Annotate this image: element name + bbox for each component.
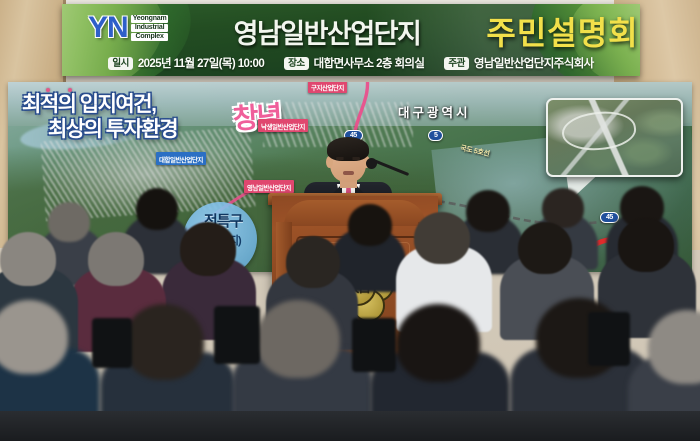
audience-head [466, 190, 510, 232]
audience-head [136, 188, 178, 230]
audience-head [0, 300, 68, 374]
audience-head [348, 204, 392, 246]
audience-head [618, 218, 674, 272]
chair-back [92, 318, 132, 368]
audience-head [124, 304, 204, 380]
site-tag-nakseong: 낙생일반산업단지 [258, 119, 308, 132]
banner-info-bar: 일시 2025년 11월 27일(목) 10:00 장소 대합면사무소 2층 회… [62, 52, 640, 74]
audience-head [88, 232, 144, 286]
chair-back [588, 312, 630, 366]
slogan-dot-2 [68, 88, 72, 92]
info-group-venue: 장소 대합면사무소 2층 회의실 [284, 55, 424, 71]
speaker-mouth [343, 171, 354, 175]
site-tag-yeongnam: 영남일반산업단지 [244, 180, 294, 193]
microphone [372, 156, 412, 190]
logo-word-3: Complex [131, 33, 169, 41]
floor [0, 411, 700, 441]
presentation-room-scene: YN Yeongnam Industrial Complex 영남일반산업단지 … [0, 0, 700, 441]
aerial-inset-photo [546, 98, 683, 177]
event-banner: YN Yeongnam Industrial Complex 영남일반산업단지 … [62, 4, 640, 76]
banner-title-main: 영남일반산업단지 [182, 13, 472, 49]
audience-head [48, 202, 90, 242]
info-group-host: 주관 영남일반산업단지주식회사 [444, 55, 593, 71]
audience-head [286, 236, 340, 288]
info-tag-host: 주관 [444, 57, 468, 70]
audience-head [396, 304, 480, 382]
yn-logo: YN Yeongnam Industrial Complex [88, 13, 168, 43]
info-value-venue: 대합면사무소 2층 회의실 [314, 55, 425, 71]
slogan-dots [46, 88, 72, 92]
logo-initials: YN [88, 13, 128, 43]
logo-word-2: Industrial [131, 24, 169, 32]
info-group-datetime: 일시 2025년 11월 27일(목) 10:00 [108, 55, 264, 71]
audience-head [414, 212, 470, 264]
logo-word-1: Yeongnam [131, 15, 169, 23]
chair-back [214, 306, 260, 364]
logo-wordmark: Yeongnam Industrial Complex [131, 15, 169, 41]
info-tag-datetime: 일시 [108, 57, 132, 70]
info-value-host: 영남일반산업단지주식회사 [474, 55, 594, 71]
microphone-head [366, 158, 377, 169]
banner-title-highlight: 주민설명회 [470, 10, 640, 52]
site-tag-guji: 구지산업단지 [308, 82, 347, 93]
site-tag-daehap: 대합일반산업단지 [156, 152, 206, 165]
map-label-daegu: 대구광역시 [398, 102, 471, 121]
audience-head [518, 222, 572, 274]
audience-head [256, 300, 340, 378]
audience-head [180, 222, 236, 276]
speaker-eyes [336, 157, 360, 160]
highway-shield-2: 5 [428, 130, 443, 141]
chair-back [352, 318, 396, 372]
audience-head [0, 232, 56, 286]
info-tag-venue: 장소 [284, 57, 308, 70]
info-value-datetime: 2025년 11월 27일(목) 10:00 [138, 55, 264, 71]
slogan-dot-1 [46, 88, 50, 92]
microphone-arm [373, 159, 409, 176]
